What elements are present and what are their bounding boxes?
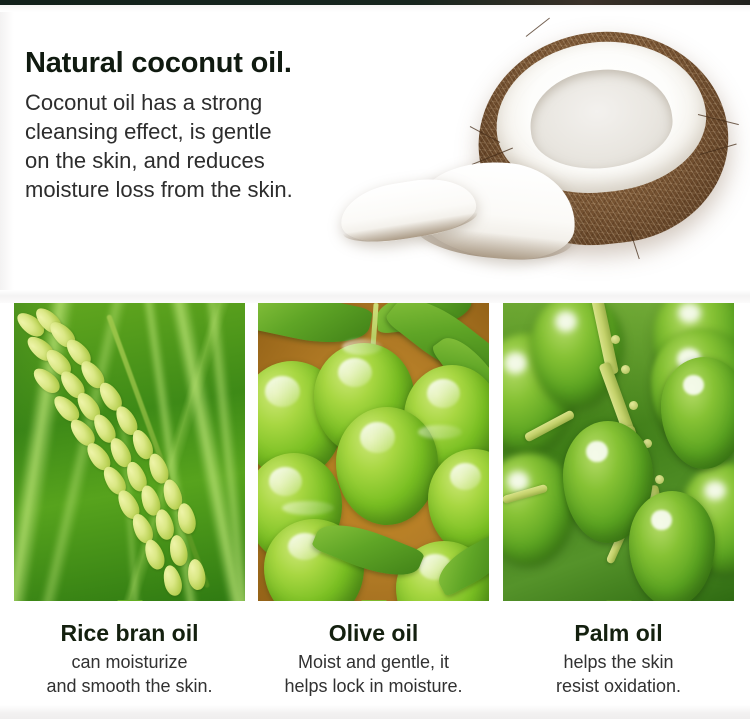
coconut-image (330, 14, 750, 290)
ingredient-title: Olive oil (258, 620, 489, 647)
ingredient-description-line-2: helps lock in moisture. (258, 674, 489, 698)
hero-left-edge-shade (0, 12, 14, 290)
bottom-shade-band (0, 705, 750, 719)
ingredient-description: can moisturize and smooth the skin. (14, 650, 245, 698)
palm-stem-node (621, 365, 630, 374)
ingredient-description-line-1: can moisturize (14, 650, 245, 674)
hero-text-block: Natural coconut oil. Coconut oil has a s… (25, 46, 355, 204)
palm-stem-node (611, 335, 620, 344)
pointer-triangle-icon (606, 600, 632, 601)
olive-caption: Olive oil Moist and gentle, it helps loc… (258, 601, 489, 698)
ingredient-title: Rice bran oil (14, 620, 245, 647)
oil-sheen (418, 425, 462, 439)
ingredient-card-palm-oil: Palm oil helps the skin resist oxidation… (503, 303, 734, 698)
rice-photo (14, 303, 245, 601)
section-divider (0, 290, 750, 303)
coconut-inner-cavity (525, 63, 676, 175)
palm-stem-node (655, 475, 664, 484)
ingredient-description: helps the skin resist oxidation. (503, 650, 734, 698)
palm-caption: Palm oil helps the skin resist oxidation… (503, 601, 734, 698)
ingredient-gallery: Rice bran oil can moisturize and smooth … (0, 303, 750, 719)
oil-sheen (282, 501, 334, 515)
oil-sheen (342, 339, 382, 355)
palm-photo-wrap (503, 303, 734, 601)
rice-caption: Rice bran oil can moisturize and smooth … (14, 601, 245, 698)
olive-photo (258, 303, 489, 601)
coconut-husk-hair (526, 18, 550, 37)
olive-photo-wrap (258, 303, 489, 601)
rice-photo-wrap (14, 303, 245, 601)
ingredient-title: Palm oil (503, 620, 734, 647)
ingredient-card-rice-bran-oil: Rice bran oil can moisturize and smooth … (14, 303, 245, 698)
ingredient-description-line-2: and smooth the skin. (14, 674, 245, 698)
hero-description-line-1: Coconut oil has a strong (25, 88, 355, 117)
pointer-triangle-icon (117, 600, 143, 601)
ingredient-description-line-2: resist oxidation. (503, 674, 734, 698)
palm-photo (503, 303, 734, 601)
hero-description: Coconut oil has a strong cleansing effec… (25, 88, 355, 204)
hero-description-line-4: moisture loss from the skin. (25, 175, 355, 204)
ingredient-description-line-1: helps the skin (503, 650, 734, 674)
pointer-triangle-icon (361, 600, 387, 601)
hero-description-line-2: cleansing effect, is gentle (25, 117, 355, 146)
hero-section: Natural coconut oil. Coconut oil has a s… (0, 12, 750, 290)
palm-stem-node (629, 401, 638, 410)
palm-fruit (629, 491, 715, 601)
top-strip-shadow (0, 5, 750, 12)
ingredient-description: Moist and gentle, it helps lock in moist… (258, 650, 489, 698)
page-title: Natural coconut oil. (25, 46, 355, 80)
product-infographic-page: Natural coconut oil. Coconut oil has a s… (0, 0, 750, 719)
hero-description-line-3: on the skin, and reduces (25, 146, 355, 175)
ingredient-card-olive-oil: Olive oil Moist and gentle, it helps loc… (258, 303, 489, 698)
ingredient-description-line-1: Moist and gentle, it (258, 650, 489, 674)
